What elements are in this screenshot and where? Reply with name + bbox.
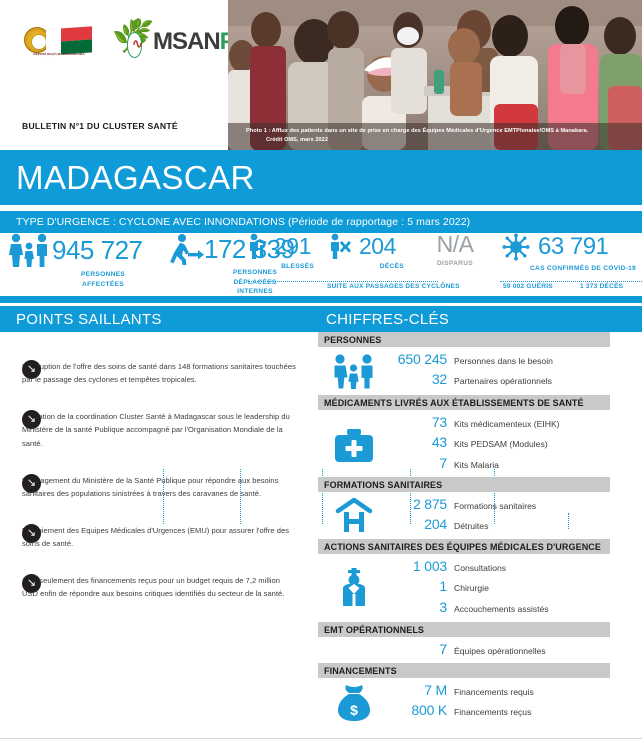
- family-icon: [8, 233, 52, 267]
- stat-value-0: 945 727: [52, 237, 142, 263]
- deceased-person-icon: [330, 233, 354, 259]
- caduceus-leaf-icon: 🌿 🌿 ∿: [114, 24, 152, 60]
- bottom-rule: [0, 738, 642, 739]
- money-bag-icon-graphic: $: [333, 684, 375, 722]
- section-body-actions: 1 003 Consultations 1 Chirurgie 3 Accouc…: [318, 554, 642, 622]
- points-saillants-header: POINTS SAILLANTS: [0, 306, 310, 332]
- highlight-item: ↘ Déploiement des Equipes Médicales d'Ur…: [0, 524, 310, 550]
- madagascar-coat-of-arms-logo: REPOBLIKAN'I MADAGASIKARA: [22, 25, 96, 59]
- money-bag-icon: $: [328, 684, 380, 727]
- kv-label: Financements reçus: [454, 707, 531, 718]
- header-photo: Photo 1 : Afflux des patients dans un si…: [228, 0, 642, 150]
- highlight-text: Activation de la coordination Cluster Sa…: [22, 410, 296, 449]
- stat-value-5: 63 791: [530, 235, 608, 259]
- arrow-down-right-icon: ↘: [22, 360, 41, 379]
- top-bar: REPOBLIKAN'I MADAGASIKARA 🌿 🌿 ∿ MSANP BU…: [0, 0, 642, 150]
- section-title: FORMATIONS SANITAIRES: [318, 480, 442, 490]
- emergency-type-text: TYPE D'URGENCE : CYCLONE AVEC INNONDATIO…: [0, 216, 470, 228]
- country-title-band: MADAGASCAR: [0, 150, 642, 205]
- section-body-emt: 7 Équipes opérationnelles: [318, 637, 642, 663]
- points-saillants-list: ↘ Interruption de l'offre des soins de s…: [0, 336, 310, 609]
- medical-kit-icon-graphic: [332, 428, 376, 464]
- coat-of-arms-caption: REPOBLIKAN'I MADAGASIKARA: [22, 53, 96, 57]
- page-title: MADAGASCAR: [0, 161, 255, 194]
- section-body-formations: 2 875 Formations sanitaires 204 Détruite…: [318, 492, 642, 539]
- doctor-icon: [328, 568, 380, 613]
- madagascar-flag-icon: [46, 26, 92, 55]
- kv-label: Kits médicamenteux (EIHK): [454, 419, 560, 430]
- kv-label: Consultations: [454, 563, 506, 574]
- virus-icon: [502, 233, 530, 261]
- emergency-type-band: TYPE D'URGENCE : CYCLONE AVEC INNONDATIO…: [0, 211, 642, 233]
- highlight-item: ↘ Activation de la coordination Cluster …: [0, 410, 310, 449]
- stat-blesses: 291 BLESSÉS: [248, 233, 320, 296]
- section-header-emt: EMT OPÉRATIONNELS: [318, 622, 610, 637]
- logo-group: REPOBLIKAN'I MADAGASIKARA 🌿 🌿 ∿ MSANP: [22, 24, 235, 60]
- section-title: EMT OPÉRATIONNELS: [318, 625, 424, 635]
- highlight-text: L'engagement du Ministère de la Santé Pu…: [22, 474, 296, 500]
- section-title: PERSONNES: [318, 335, 381, 345]
- kv-label: Personnes dans le besoin: [454, 356, 553, 367]
- kv-label: Kits Malaria: [454, 460, 499, 471]
- chiffres-cles-header: CHIFFRES-CLÉS: [310, 306, 642, 332]
- photo-caption-line1: Photo 1 : Afflux des patients dans un si…: [246, 128, 588, 134]
- section-header-medicaments: MÉDICAMENTS LIVRÉS AUX ÉTABLISSEMENTS DE…: [318, 395, 610, 410]
- highlight-item: ↘ L'engagement du Ministère de la Santé …: [0, 474, 310, 500]
- msanp-logo-text: MSANP: [153, 28, 235, 56]
- msanp-logo-text-main: MSAN: [153, 28, 220, 55]
- section-header-actions: ACTIONS SANITAIRES DES ÉQUIPES MÉDICALES…: [318, 539, 610, 554]
- photo-caption-line2: Crédit OMS, mars 2022: [246, 136, 636, 145]
- doctor-icon-graphic: [334, 568, 374, 608]
- section-body-financements: $ 7 M Financements requis 800 K Financem…: [318, 678, 642, 728]
- highlight-item: ↘ Interruption de l'offre des soins de s…: [0, 360, 310, 386]
- bulletin-page: REPOBLIKAN'I MADAGASIKARA 🌿 🌿 ∿ MSANP BU…: [0, 0, 642, 744]
- kv-label: Partenaires opérationnels: [454, 376, 552, 387]
- chiffres-cles-title: CHIFFRES-CLÉS: [310, 311, 449, 328]
- stat-label-4-line1: DISPARUS: [418, 259, 492, 269]
- stat-hdivider-covid: [500, 281, 642, 282]
- section-title: FINANCEMENTS: [318, 666, 397, 676]
- covid-deaths-subnote: 1 373 DÉCÈS: [580, 283, 623, 290]
- cyclone-subnote: SUITE AUX PASSAGES DES CYCLÔNES: [327, 283, 460, 290]
- covid-recovered-subnote: 59 002 GUÉRIS: [503, 283, 553, 290]
- stat-label-0-line2: AFFECTÉES: [46, 280, 160, 290]
- photo-caption: Photo 1 : Afflux des patients dans un si…: [228, 123, 642, 150]
- stat-value-2: 291: [268, 235, 311, 258]
- section-body-personnes: 650 245 Personnes dans le besoin 32 Part…: [318, 347, 642, 395]
- stat-label-3-line1: DÉCÈS: [330, 262, 404, 272]
- bulletin-label: BULLETIN N°1 DU CLUSTER SANTÉ: [22, 121, 178, 131]
- highlight-text: 10% seulement des financements reçus pou…: [22, 574, 296, 600]
- chiffres-cles-sections: PERSONNES 650 245 Personnes dans le beso…: [318, 332, 642, 728]
- svg-text:$: $: [350, 702, 358, 718]
- kv-label: Détruites: [454, 521, 488, 532]
- kv-label: Kits PEDSAM (Modules): [454, 439, 548, 450]
- hospital-icon: [328, 497, 380, 538]
- stat-label-5-line1: CAS CONFIRMÉS DE COVID-19: [524, 264, 642, 274]
- stat-value-3: 204: [354, 235, 396, 258]
- highlight-item: ↘ 10% seulement des financements reçus p…: [0, 574, 310, 600]
- stat-label-0-line1: PERSONNES: [46, 270, 160, 280]
- medical-kit-icon: [328, 428, 380, 469]
- section-body-medicaments: 73 Kits médicamenteux (EIHK) 43 Kits PED…: [318, 410, 642, 477]
- blue-separator-rule: [0, 296, 642, 303]
- walking-person-arrow-icon: [170, 233, 204, 265]
- highlight-text: Déploiement des Equipes Médicales d'Urge…: [22, 524, 296, 550]
- section-title: MÉDICAMENTS LIVRÉS AUX ÉTABLISSEMENTS DE…: [318, 398, 584, 408]
- stat-value-4: N/A: [437, 233, 474, 256]
- section-title: ACTIONS SANITAIRES DES ÉQUIPES MÉDICALES…: [318, 542, 601, 552]
- kv-label: Accouchements assistés: [454, 604, 549, 615]
- arrow-down-right-icon: ↘: [22, 474, 41, 493]
- stat-personnes-affectees: 945 727 PERSONNES AFFECTÉES: [8, 233, 160, 296]
- kv-label: Chirurgie: [454, 583, 489, 594]
- points-saillants-title: POINTS SAILLANTS: [0, 311, 162, 328]
- kv-label: Financements requis: [454, 687, 534, 698]
- kv-label: Formations sanitaires: [454, 501, 536, 512]
- section-header-personnes: PERSONNES: [318, 332, 610, 347]
- family-icon: [328, 353, 380, 394]
- kv-row: 7 Équipes opérationnelles: [318, 639, 642, 660]
- msanp-ministry-logo: 🌿 🌿 ∿ MSANP: [114, 24, 235, 60]
- kv-label: Équipes opérationnelles: [454, 646, 546, 657]
- family-icon-graphic: [331, 353, 377, 389]
- injured-person-icon: [248, 233, 268, 259]
- section-header-formations: FORMATIONS SANITAIRES: [318, 477, 610, 492]
- stat-hdivider-cyclone: [248, 281, 438, 282]
- kv-value: 7: [318, 641, 454, 659]
- arrow-down-right-icon: ↘: [22, 574, 41, 593]
- arrow-down-right-icon: ↘: [22, 524, 41, 543]
- hospital-icon-graphic: [332, 497, 376, 533]
- stat-label-2-line1: BLESSÉS: [248, 262, 314, 272]
- highlight-text: Interruption de l'offre des soins de san…: [22, 360, 296, 386]
- section-header-financements: FINANCEMENTS: [318, 663, 610, 678]
